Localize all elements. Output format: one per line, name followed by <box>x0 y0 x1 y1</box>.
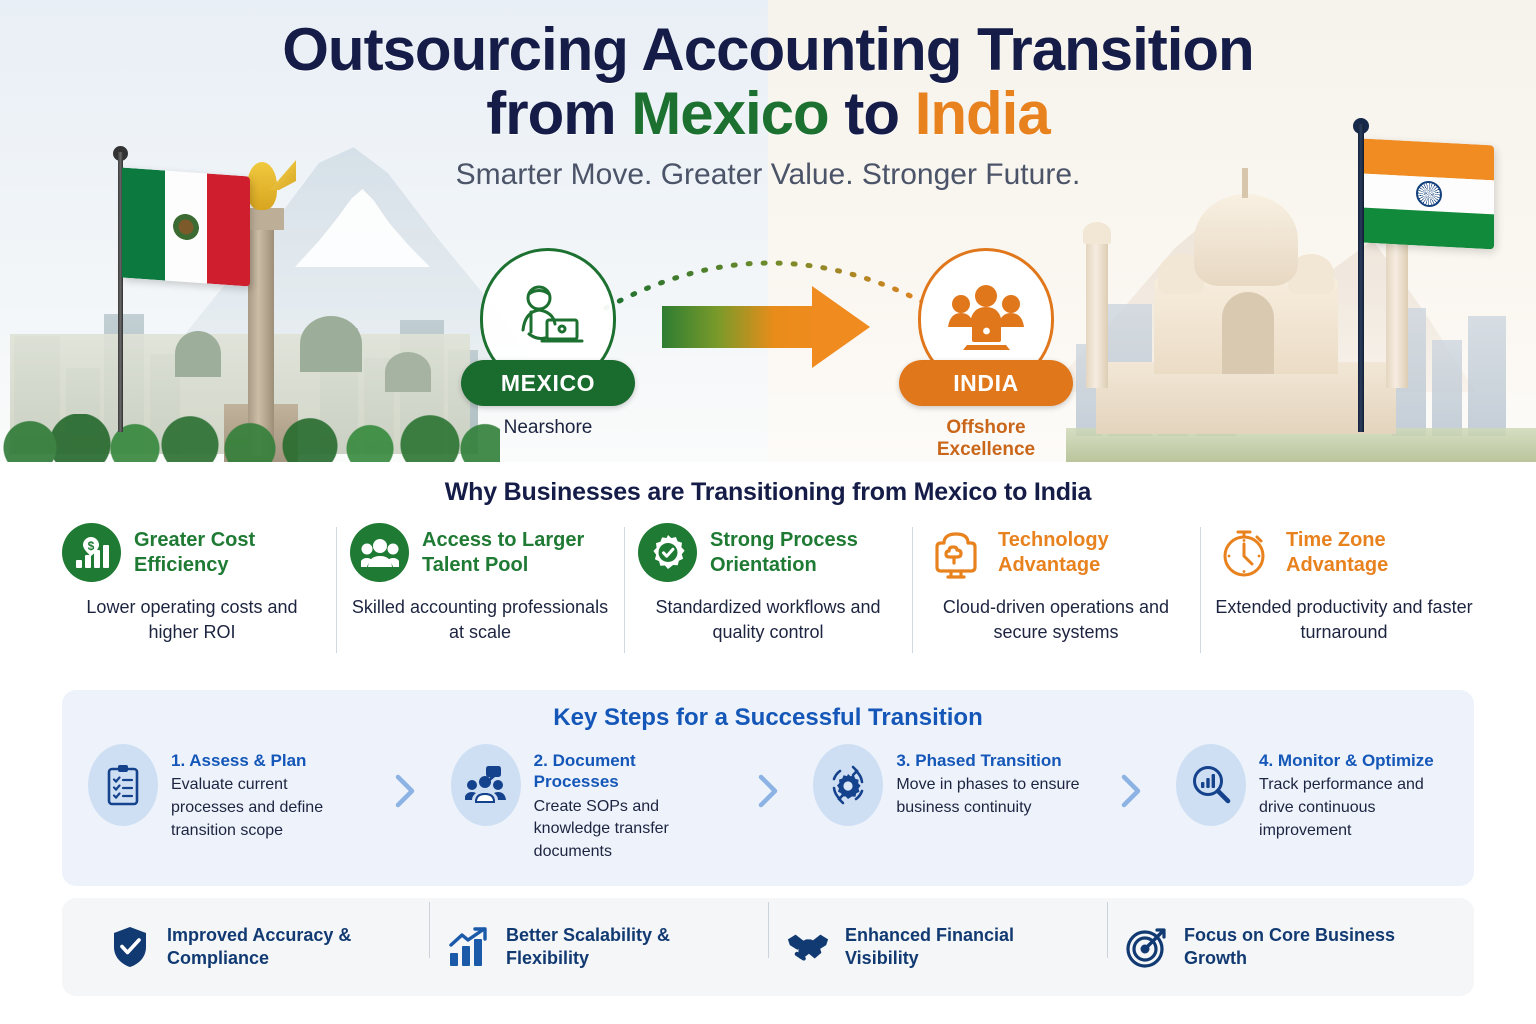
india-node: INDIA Offshore Excellence <box>912 248 1060 461</box>
benefit-heading: Technology Advantage <box>998 528 1186 577</box>
step-heading: 3. Phased Transition <box>896 750 1085 771</box>
outcome-label: Focus on Core Business Growth <box>1184 924 1428 971</box>
outcome-better-scalability[interactable]: Better Scalability & Flexibility <box>429 924 768 971</box>
benefit-header: Time Zone Advantage <box>1214 523 1474 582</box>
cloud-monitor-icon <box>926 523 985 582</box>
benefits-title: Why Businesses are Transitioning from Me… <box>0 462 1536 507</box>
gear-cycle-icon <box>813 744 883 826</box>
benefit-description: Lower operating costs and higher ROI <box>62 595 322 645</box>
benefit-description: Extended productivity and faster turnaro… <box>1214 595 1474 645</box>
shield-check-icon <box>108 925 152 969</box>
transition-arrow <box>662 286 882 368</box>
benefit-heading: Access to Larger Talent Pool <box>422 528 610 577</box>
gear-check-icon <box>638 523 697 582</box>
title-line-two: from Mexico to India <box>0 82 1536 146</box>
growth-bar-chart-icon <box>447 925 491 969</box>
india-caption: Offshore Excellence <box>912 417 1060 461</box>
people-group-icon <box>350 523 409 582</box>
step-text: 1. Assess & Plan Evaluate current proces… <box>171 744 360 842</box>
chevron-right-icon <box>360 744 451 808</box>
benefits-section: Why Businesses are Transitioning from Me… <box>0 462 1536 674</box>
benefit-header: Technology Advantage <box>926 523 1186 582</box>
page-subtitle: Smarter Move. Greater Value. Stronger Fu… <box>0 158 1536 192</box>
benefit-card-technology[interactable]: Technology Advantage Cloud-driven operat… <box>912 523 1200 645</box>
handshake-icon <box>786 925 830 969</box>
dollar-bar-chart-icon: $ <box>62 523 121 582</box>
step-heading: 4. Monitor & Optimize <box>1259 750 1448 771</box>
india-badge[interactable]: INDIA <box>899 360 1073 406</box>
outcomes-bar: Improved Accuracy & Compliance Better Sc… <box>62 898 1474 996</box>
outcome-core-business-growth[interactable]: Focus on Core Business Growth <box>1107 924 1446 971</box>
svg-text:$: $ <box>87 539 94 553</box>
step-heading: 1. Assess & Plan <box>171 750 360 771</box>
title-to-word: to <box>829 80 915 147</box>
benefit-card-cost-efficiency[interactable]: $ Greater Cost Efficiency Lower operatin… <box>48 523 336 645</box>
team-chat-icon <box>451 744 521 826</box>
step-text: 4. Monitor & Optimize Track performance … <box>1259 744 1448 842</box>
benefit-header: Strong Process Orientation <box>638 523 898 582</box>
benefit-description: Skilled accounting professionals at scal… <box>350 595 610 645</box>
step-card-monitor-optimize[interactable]: 4. Monitor & Optimize Track performance … <box>1176 744 1448 842</box>
key-steps-title: Key Steps for a Successful Transition <box>62 690 1474 732</box>
outcome-enhanced-visibility[interactable]: Enhanced Financial Visibility <box>768 924 1107 971</box>
person-with-laptop-icon <box>509 282 587 354</box>
mexico-node: MEXICO Nearshore <box>474 248 622 439</box>
transition-diagram: MEXICO Nearshore INDIA Offshore Excellen… <box>0 248 1536 462</box>
chevron-right-icon <box>723 744 814 808</box>
key-steps-section: Key Steps for a Successful Transition 1.… <box>62 690 1474 886</box>
step-description: Evaluate current processes and define tr… <box>171 774 360 842</box>
step-description: Create SOPs and knowledge transfer docum… <box>534 796 723 864</box>
benefit-header: Access to Larger Talent Pool <box>350 523 610 582</box>
benefit-heading: Strong Process Orientation <box>710 528 898 577</box>
title-line-one: Outsourcing Accounting Transition <box>0 18 1536 82</box>
benefits-row: $ Greater Cost Efficiency Lower operatin… <box>0 523 1536 645</box>
magnifier-chart-icon <box>1176 744 1246 826</box>
title-from-word: from <box>486 80 631 147</box>
benefit-card-talent-pool[interactable]: Access to Larger Talent Pool Skilled acc… <box>336 523 624 645</box>
title-india-word: India <box>915 80 1050 147</box>
benefit-heading: Greater Cost Efficiency <box>134 528 322 577</box>
benefit-description: Cloud-driven operations and secure syste… <box>926 595 1186 645</box>
step-text: 2. Document Processes Create SOPs and kn… <box>534 744 723 864</box>
chevron-right-icon <box>1085 744 1176 808</box>
stopwatch-icon <box>1214 523 1273 582</box>
mexico-flag-emblem <box>173 213 199 241</box>
hero-banner: Outsourcing Accounting Transition from M… <box>0 0 1536 462</box>
step-card-document-processes[interactable]: 2. Document Processes Create SOPs and kn… <box>451 744 723 864</box>
hero-headline-block: Outsourcing Accounting Transition from M… <box>0 18 1536 192</box>
benefit-card-time-zone[interactable]: Time Zone Advantage Extended productivit… <box>1200 523 1488 645</box>
outcome-label: Better Scalability & Flexibility <box>506 924 750 971</box>
mexico-badge[interactable]: MEXICO <box>461 360 635 406</box>
step-description: Track performance and drive continuous i… <box>1259 774 1448 842</box>
target-dart-icon <box>1125 925 1169 969</box>
step-card-assess-plan[interactable]: 1. Assess & Plan Evaluate current proces… <box>88 744 360 842</box>
benefit-card-process-orientation[interactable]: Strong Process Orientation Standardized … <box>624 523 912 645</box>
outcome-label: Enhanced Financial Visibility <box>845 924 1089 971</box>
outcome-improved-accuracy[interactable]: Improved Accuracy & Compliance <box>90 924 429 971</box>
arrow-shaft <box>662 306 822 348</box>
benefit-description: Standardized workflows and quality contr… <box>638 595 898 645</box>
title-mexico-word: Mexico <box>631 80 828 147</box>
benefit-header: $ Greater Cost Efficiency <box>62 523 322 582</box>
benefit-heading: Time Zone Advantage <box>1286 528 1474 577</box>
page-title: Outsourcing Accounting Transition from M… <box>0 18 1536 146</box>
mexico-caption: Nearshore <box>474 417 622 439</box>
key-steps-row: 1. Assess & Plan Evaluate current proces… <box>62 744 1474 864</box>
step-card-phased-transition[interactable]: 3. Phased Transition Move in phases to e… <box>813 744 1085 826</box>
arrow-head <box>812 286 870 368</box>
outcome-label: Improved Accuracy & Compliance <box>167 924 411 971</box>
step-description: Move in phases to ensure business contin… <box>896 774 1085 819</box>
team-with-laptop-icon <box>945 283 1027 353</box>
step-text: 3. Phased Transition Move in phases to e… <box>896 744 1085 826</box>
step-heading: 2. Document Processes <box>534 750 723 793</box>
clipboard-checklist-icon <box>88 744 158 826</box>
